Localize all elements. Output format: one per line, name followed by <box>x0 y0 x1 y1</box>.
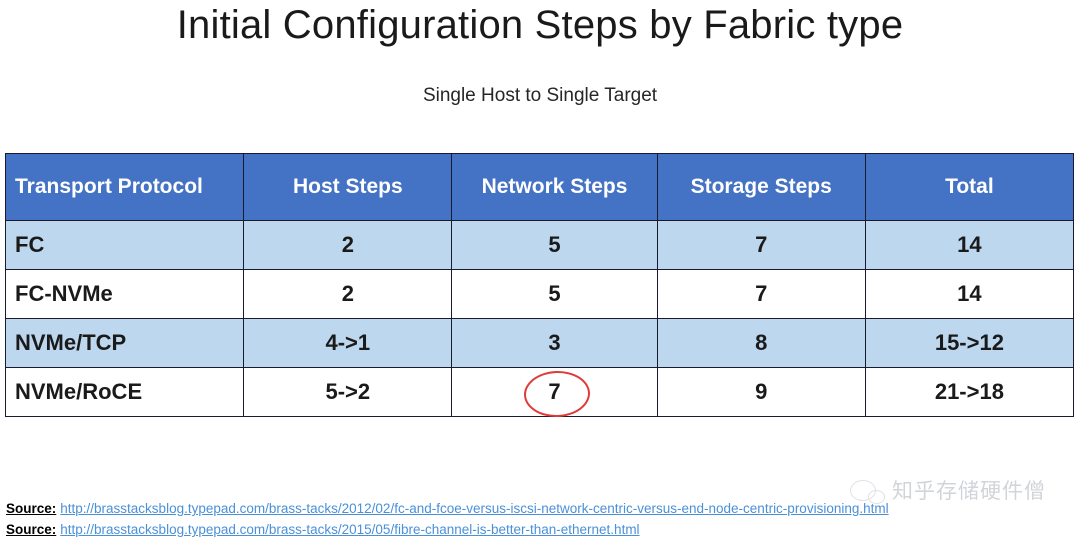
cell-total: 15->12 <box>865 319 1073 368</box>
configuration-steps-table: Transport Protocol Host Steps Network St… <box>5 153 1074 417</box>
highlighted-value-wrapper: 7 <box>548 379 560 405</box>
cell-host-steps: 2 <box>244 221 452 270</box>
cell-host-steps: 4->1 <box>244 319 452 368</box>
cell-storage-steps: 7 <box>657 221 865 270</box>
cell-storage-steps: 9 <box>657 368 865 417</box>
page-subtitle: Single Host to Single Target <box>0 84 1080 108</box>
cell-total: 21->18 <box>865 368 1073 417</box>
cell-host-steps: 5->2 <box>244 368 452 417</box>
column-header-storage-steps: Storage Steps <box>657 154 865 221</box>
column-header-host-steps: Host Steps <box>244 154 452 221</box>
cell-network-steps: 5 <box>452 270 657 319</box>
cell-host-steps: 2 <box>244 270 452 319</box>
cell-total: 14 <box>865 221 1073 270</box>
page-title: Initial Configuration Steps by Fabric ty… <box>0 2 1080 48</box>
source-line: Source:http://brasstacksblog.typepad.com… <box>6 519 1076 540</box>
column-header-total: Total <box>865 154 1073 221</box>
cell-network-steps-value: 7 <box>548 379 560 404</box>
cell-network-steps: 3 <box>452 319 657 368</box>
cell-storage-steps: 8 <box>657 319 865 368</box>
table-row: NVMe/TCP 4->1 3 8 15->12 <box>6 319 1074 368</box>
source-line: Source:http://brasstacksblog.typepad.com… <box>6 498 1076 519</box>
source-label: Source: <box>6 522 56 537</box>
table-row: NVMe/RoCE 5->2 7 9 21->18 <box>6 368 1074 417</box>
cell-storage-steps: 7 <box>657 270 865 319</box>
source-link[interactable]: http://brasstacksblog.typepad.com/brass-… <box>60 522 639 537</box>
sources-section: Source:http://brasstacksblog.typepad.com… <box>6 498 1076 540</box>
source-link[interactable]: http://brasstacksblog.typepad.com/brass-… <box>60 501 888 516</box>
cell-protocol: NVMe/TCP <box>6 319 244 368</box>
cell-network-steps: 7 <box>452 368 657 417</box>
table-header-row: Transport Protocol Host Steps Network St… <box>6 154 1074 221</box>
column-header-transport-protocol: Transport Protocol <box>6 154 244 221</box>
table-row: FC 2 5 7 14 <box>6 221 1074 270</box>
cell-protocol: FC-NVMe <box>6 270 244 319</box>
source-label: Source: <box>6 501 56 516</box>
cell-total: 14 <box>865 270 1073 319</box>
cell-protocol: FC <box>6 221 244 270</box>
cell-protocol: NVMe/RoCE <box>6 368 244 417</box>
table-row: FC-NVMe 2 5 7 14 <box>6 270 1074 319</box>
cell-network-steps: 5 <box>452 221 657 270</box>
column-header-network-steps: Network Steps <box>452 154 657 221</box>
